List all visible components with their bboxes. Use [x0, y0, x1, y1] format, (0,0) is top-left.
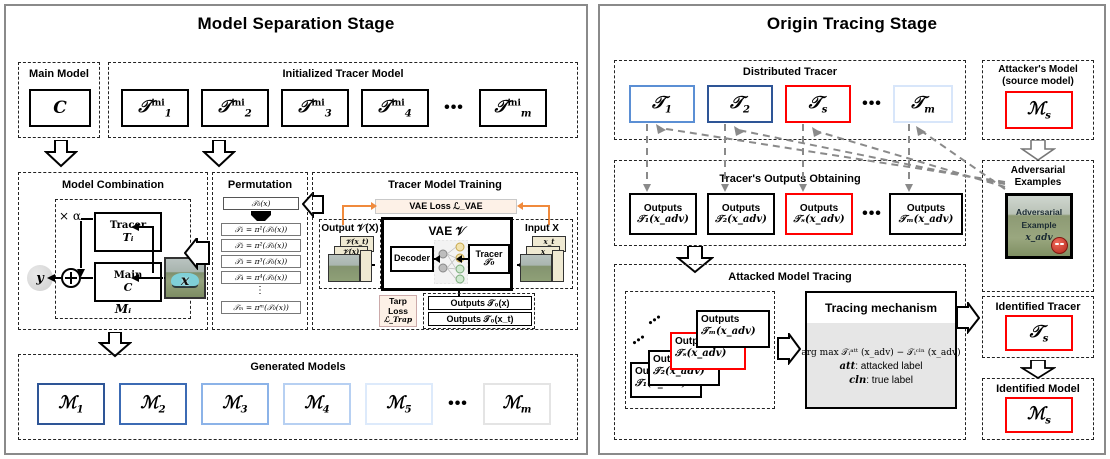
neural-net-icon: [434, 240, 468, 284]
initialized-tracer-label: Initialized Tracer Model: [109, 68, 577, 81]
attackers-model-label-2: (source model): [983, 76, 1093, 88]
identified-tracer-label: Identified Tracer: [983, 301, 1093, 314]
permutation-row-3: 𝒯₃ = π³(𝒯₀(x)): [221, 255, 301, 268]
arrow-stack-to-mechanism: [777, 333, 801, 365]
model-combination-group: Model Combination Tracer Tᵢ Main C Mᵢ × …: [18, 172, 208, 330]
permutation-row-4: 𝒯₄ = π⁴(𝒯₀(x)): [221, 271, 301, 284]
model-separation-panel: Model Separation Stage Main Model C Init…: [4, 4, 588, 455]
devil-emoji-icon: [1051, 237, 1068, 254]
generated-model-box-4: ℳ4: [283, 383, 351, 425]
attacked-tracing-group: Attacked Model Tracing ••• ••• Outputs 𝒯…: [614, 264, 966, 440]
generated-model-box-5: ℳ5: [365, 383, 433, 425]
generated-models-label: Generated Models: [19, 361, 577, 374]
diagram-canvas: Model Separation Stage Main Model C Init…: [0, 0, 1110, 459]
distributed-tracer-box-2: 𝒯2: [707, 85, 773, 123]
distributed-tracer-box-m: 𝒯m: [893, 85, 953, 123]
tracer-training-label: Tracer Model Training: [313, 179, 577, 192]
attacked-tracing-label: Attacked Model Tracing: [615, 271, 965, 284]
identified-tracer-box: 𝒯s: [1005, 315, 1073, 351]
distributed-tracer-group: Distributed Tracer 𝒯1 𝒯2 𝒯s ••• 𝒯m: [614, 60, 966, 140]
decoder-box: Decoder: [390, 246, 434, 272]
combination-group-label: Mᵢ: [56, 302, 190, 316]
tracing-formula: arg max 𝒯ᵢᵃᵗᵗ (x_adv) − 𝒯ᵢᶜˡⁿ (x_adv): [801, 348, 960, 358]
outputs-group: Outputs 𝒯₀(x) Outputs 𝒯₀(x_t): [423, 293, 535, 329]
vae-input-label: Input X: [512, 223, 572, 235]
tracer-ini-box-1: 𝒯ini1: [121, 89, 189, 127]
generated-model-box-m: ℳm: [483, 383, 551, 425]
adversarial-examples-group: Adversarial Examples Adversarial Example…: [982, 160, 1094, 292]
tracer-training-group: Tracer Model Training VAE Loss ℒ_VAE: [312, 172, 578, 330]
outputs-box-1: Outputs 𝒯₀(x): [428, 296, 532, 310]
stacked-output-box-m: Outputs 𝒯ₘ(x_adv): [696, 310, 770, 348]
left-stage-title: Model Separation Stage: [6, 14, 586, 34]
permutation-head-row: 𝒯₀(x): [223, 197, 299, 210]
sum-node: [61, 268, 81, 288]
identified-model-label: Identified Model: [983, 383, 1093, 396]
tracer-t0-box: Tracer 𝒯₀: [468, 244, 510, 274]
vae-output-group: Output 𝒱(X) 𝒱(x_t) 𝒱(x): [319, 219, 381, 289]
vae-input-group: Input X x_t x: [511, 219, 573, 289]
generated-model-box-1: ℳ1: [37, 383, 105, 425]
tracer-ini-ellipsis: •••: [437, 89, 471, 127]
permutation-row-m: 𝒯ₘ = πᵐ(𝒯₀(x)): [221, 301, 301, 314]
tracing-mechanism-body: arg max 𝒯ᵢᵃᵗᵗ (x_adv) − 𝒯ᵢᶜˡⁿ (x_adv) at…: [807, 323, 955, 407]
tracer-ini-box-m: 𝒯inim: [479, 89, 547, 127]
outputs-box-2: Outputs 𝒯₀(x_t): [428, 312, 532, 326]
distributed-tracer-box-s: 𝒯s: [785, 85, 851, 123]
tracer-ini-box-4: 𝒯ini4: [361, 89, 429, 127]
legend-cln: cln: true label: [849, 375, 913, 386]
origin-tracing-panel: Origin Tracing Stage Distributed Tracer …: [598, 4, 1106, 455]
input-cube-stack: x_t x: [516, 236, 570, 286]
stacked-outputs-group: ••• ••• Outputs 𝒯₁(x_adv) Outputs 𝒯₂(x_a…: [625, 291, 775, 409]
tracer-outputs-label: Tracer's Outputs Obtaining: [615, 173, 965, 186]
identified-tracer-group: Identified Tracer 𝒯s: [982, 296, 1094, 358]
alpha-multiplier: × α: [59, 209, 81, 223]
distributed-tracer-label: Distributed Tracer: [615, 66, 965, 79]
stack-dots-lower: •••: [630, 331, 649, 349]
identified-model-box: ℳs: [1005, 397, 1073, 433]
arrow-tracer-to-identified-model: [1020, 360, 1056, 380]
tracing-mechanism-title: Tracing mechanism: [807, 301, 955, 315]
attackers-model-label-1: Attacker's Model: [983, 64, 1093, 76]
permutation-label: Permutation: [213, 179, 307, 192]
initialized-tracer-group: Initialized Tracer Model 𝒯ini1 𝒯ini2 𝒯in…: [108, 62, 578, 138]
tracer-outputs-group: Tracer's Outputs Obtaining Outputs 𝒯₁(x_…: [614, 160, 966, 246]
permutation-row-1: 𝒯₁ = π¹(𝒯₀(x)): [221, 223, 301, 236]
main-model-group: Main Model C: [18, 62, 100, 138]
tracer-output-box-m: Outputs 𝒯ₘ(x_adv): [889, 193, 963, 235]
output-y-node: y: [27, 265, 53, 291]
main-c-box: Main C: [94, 262, 162, 302]
main-model-box: C: [29, 89, 91, 127]
tracer-output-box-1: Outputs 𝒯₁(x_adv): [629, 193, 697, 235]
vae-box: VAE 𝒱 Decoder Tracer 𝒯₀: [381, 217, 513, 291]
distributed-tracer-ellipsis: •••: [857, 85, 887, 123]
generated-model-box-2: ℳ2: [119, 383, 187, 425]
vae-title: VAE 𝒱: [384, 224, 510, 239]
adversarial-example-thumbnail: Adversarial Example x_adv: [1005, 193, 1073, 259]
vae-output-label: Output 𝒱(X): [320, 223, 380, 235]
identified-model-group: Identified Model ℳs: [982, 378, 1094, 440]
arrow-mechanism-to-identified-tracer: [956, 302, 980, 334]
permutation-vdots: ⋮: [213, 285, 307, 296]
legend-att: att: attacked label: [840, 361, 923, 372]
stack-dots-upper: •••: [646, 311, 665, 329]
tarp-loss-box: Tarp Loss ℒ_Trap: [379, 295, 417, 327]
distributed-tracer-box-1: 𝒯1: [629, 85, 695, 123]
permutation-group: Permutation 𝒯₀(x) 𝒯₁ = π¹(𝒯₀(x)) 𝒯₂ = π²…: [212, 172, 308, 330]
tracer-output-box-2: Outputs 𝒯₂(x_adv): [707, 193, 775, 235]
attackers-model-box: ℳs: [1005, 91, 1073, 129]
tracer-output-box-s: Outputs 𝒯ₛ(x_adv): [785, 193, 853, 235]
arrow-tracer-to-permutation: [202, 140, 236, 168]
generated-models-group: Generated Models ℳ1 ℳ2 ℳ3 ℳ4 ℳ5 ••• ℳm: [18, 354, 578, 440]
permutation-row-2: 𝒯₂ = π²(𝒯₀(x)): [221, 239, 301, 252]
tracer-ini-box-3: 𝒯ini3: [281, 89, 349, 127]
vae-loss-bar: VAE Loss ℒ_VAE: [375, 199, 517, 214]
adversarial-label-2: Examples: [983, 177, 1093, 189]
tracer-ini-box-2: 𝒯ini2: [201, 89, 269, 127]
generated-model-box-3: ℳ3: [201, 383, 269, 425]
output-cube-stack: 𝒱(x_t) 𝒱(x): [324, 236, 378, 286]
arrow-permutation-to-combination: [184, 238, 210, 270]
tracer-outputs-ellipsis: •••: [857, 193, 887, 235]
right-stage-title: Origin Tracing Stage: [600, 14, 1104, 34]
arrow-attacker-to-adversarial: [1020, 140, 1056, 162]
adversarial-label-1: Adversarial: [983, 165, 1093, 177]
main-model-label: Main Model: [19, 68, 99, 81]
attackers-model-group: Attacker's Model (source model) ℳs: [982, 60, 1094, 140]
tracer-ti-box: Tracer Tᵢ: [94, 212, 162, 252]
tracing-mechanism-box: Tracing mechanism arg max 𝒯ᵢᵃᵗᵗ (x_adv) …: [805, 291, 957, 409]
model-combination-label: Model Combination: [19, 179, 207, 192]
generated-models-ellipsis: •••: [441, 383, 475, 425]
arrow-main-to-combination: [44, 140, 78, 168]
